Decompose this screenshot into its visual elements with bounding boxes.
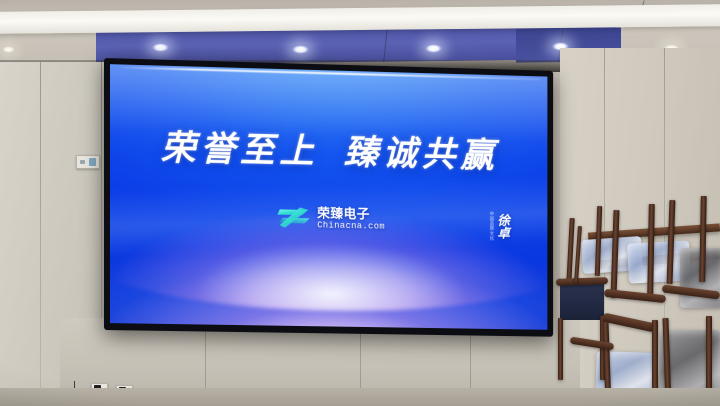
secondary-logo-big-text: 徐卓 — [496, 213, 509, 239]
downlight-2 — [292, 45, 309, 54]
headline-left: 荣誉至上 — [161, 129, 319, 172]
downlight-3 — [425, 44, 442, 53]
rongzhen-arrow-logo-icon — [277, 205, 310, 231]
floor — [0, 388, 720, 406]
slide-headline: 荣誉至上臻诚共赢 — [110, 119, 547, 180]
secondary-logo-small-text: 中国品牌文化 — [489, 211, 494, 241]
downlight-1 — [152, 43, 169, 52]
room-photo-scene: 荣誉至上臻诚共赢 — [0, 0, 720, 406]
wall-plate-upper[interactable] — [76, 155, 100, 169]
downlight-6 — [2, 46, 15, 53]
headline-right: 臻诚共赢 — [344, 133, 499, 175]
secondary-logo: 中国品牌文化 徐卓 — [489, 211, 509, 241]
logo-company-name: 荣臻电子 — [317, 207, 370, 221]
led-display[interactable]: 荣誉至上臻诚共赢 — [104, 58, 553, 337]
display-screen[interactable]: 荣誉至上臻诚共赢 — [110, 64, 547, 330]
logo-website: Chinacna.com — [317, 222, 385, 232]
